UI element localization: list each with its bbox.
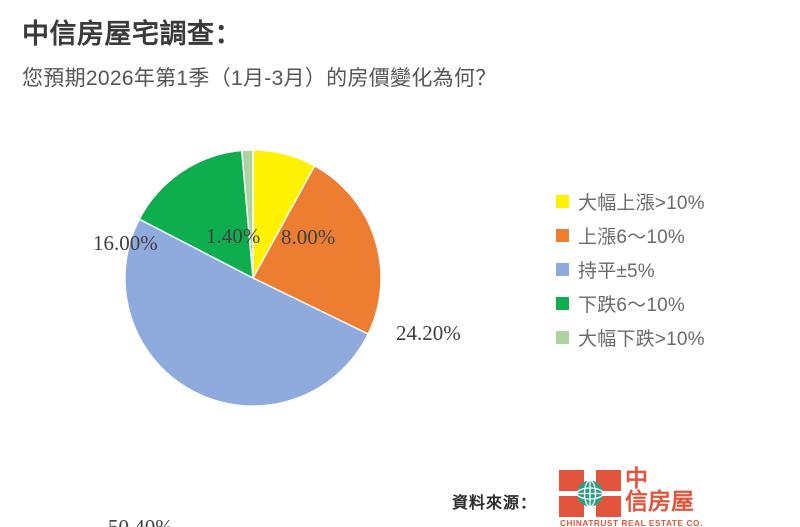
legend-swatch (556, 297, 569, 310)
legend-item[interactable]: 下跌6～10% (556, 292, 705, 314)
page-title: 中信房屋宅調查： (22, 12, 242, 51)
pie-label-da-fu-shang-zhang: 8.00% (281, 225, 335, 250)
company-logo: 中 信房屋 CHINATRUST REAL ESTATE CO. (559, 468, 709, 527)
legend-item[interactable]: 大幅上漲>10% (556, 190, 705, 212)
legend-item[interactable]: 上漲6～10% (556, 224, 705, 246)
pie-chart: 1.40% 8.00% 24.20% 50.40% 16.00% (0, 105, 560, 455)
pie-label-chi-ping: 50.40% (108, 515, 173, 527)
chart-legend: 大幅上漲>10%上漲6～10%持平±5%下跌6～10%大幅下跌>10% (556, 190, 705, 348)
logo-chinese-line2: 信房屋 (625, 491, 694, 514)
chart-page: 中信房屋宅調查： 您預期2026年第1季（1月-3月）的房價變化為何？ 1.40… (0, 0, 800, 527)
legend-item[interactable]: 大幅下跌>10% (556, 326, 705, 348)
logo-english-name: CHINATRUST REAL ESTATE CO. (560, 519, 703, 527)
legend-swatch (556, 195, 569, 208)
pie-slice-group (125, 150, 381, 406)
legend-swatch (556, 331, 569, 344)
logo-chinese-name: 中 信房屋 (625, 468, 694, 514)
legend-label: 持平±5% (578, 256, 655, 283)
legend-label: 下跌6～10% (578, 290, 685, 317)
legend-swatch (556, 229, 569, 242)
source-row: 資料來源： 中 信房屋 CHINATRUST REAL ESTATE CO. (452, 468, 709, 527)
page-subtitle: 您預期2026年第1季（1月-3月）的房價變化為何？ (22, 62, 497, 92)
legend-label: 上漲6～10% (578, 222, 685, 249)
pie-chart-svg (0, 105, 560, 455)
pie-label-shang-zhang: 24.20% (396, 321, 461, 346)
legend-label: 大幅下跌>10% (578, 324, 705, 351)
pie-label-da-fu-xia-die: 1.40% (206, 224, 260, 249)
legend-swatch (556, 263, 569, 276)
legend-label: 大幅上漲>10% (578, 188, 705, 215)
legend-item[interactable]: 持平±5% (556, 258, 705, 280)
source-label: 資料來源： (452, 489, 537, 513)
pie-label-xia-die: 16.00% (93, 231, 158, 256)
globe-icon (559, 470, 621, 517)
logo-chinese-line1: 中 (625, 468, 694, 491)
